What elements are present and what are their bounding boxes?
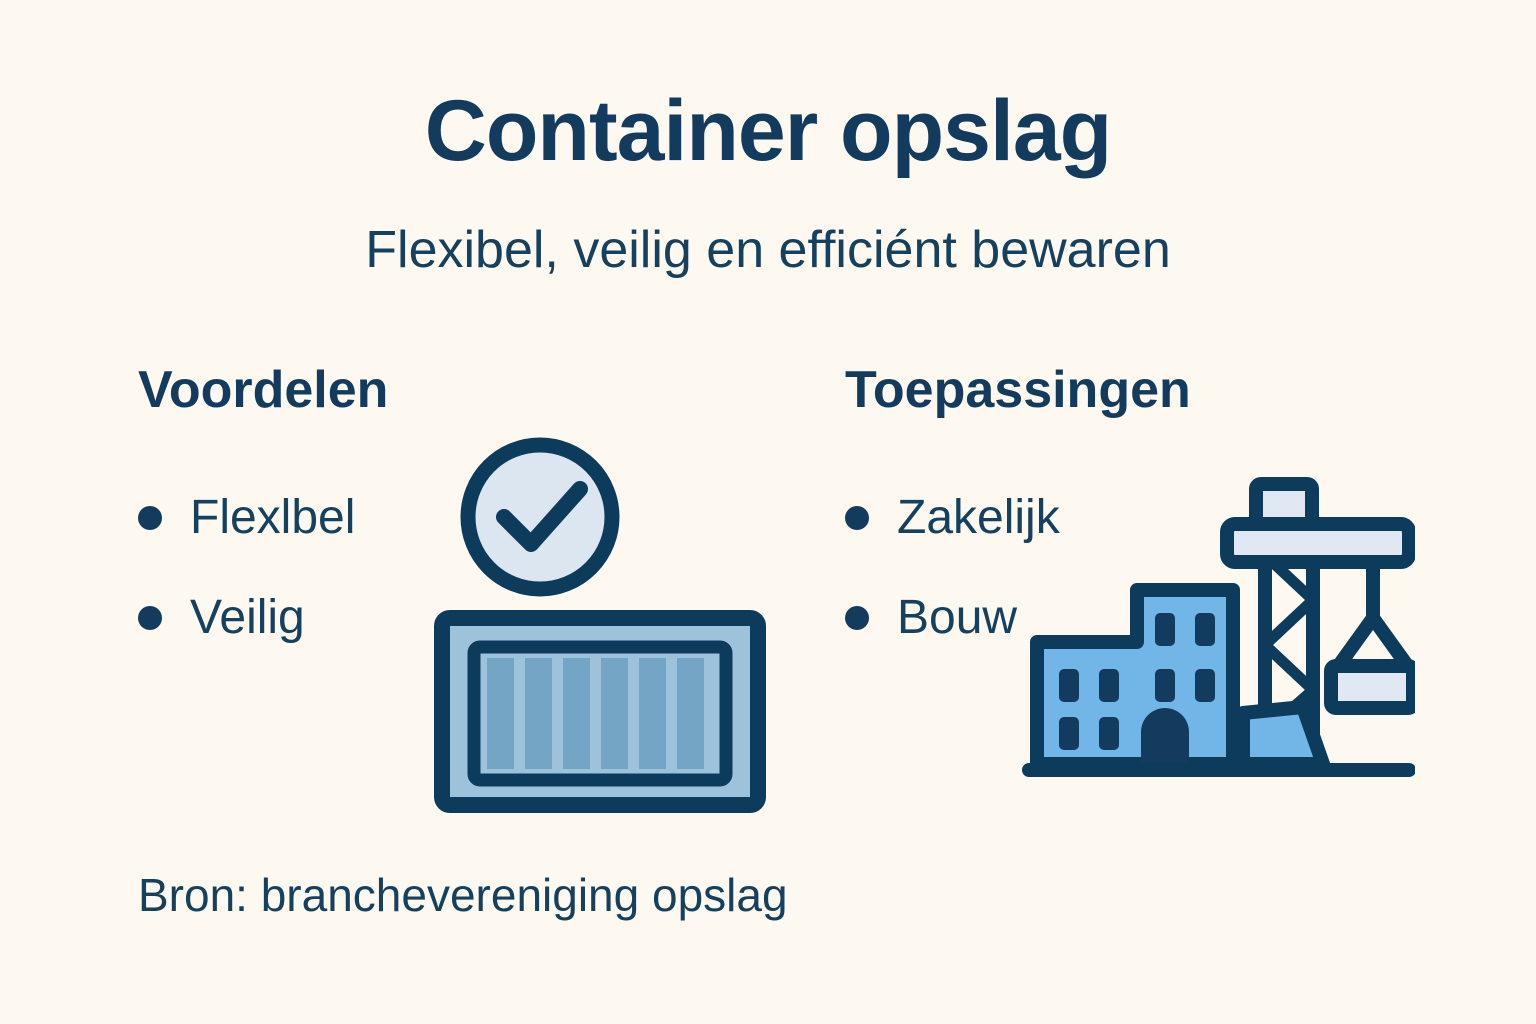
shipping-container-illustration [430, 425, 770, 820]
column-heading-voordelen: Voordelen [138, 362, 388, 419]
bullet-dot-icon [138, 606, 162, 630]
infographic-canvas: Container opslag Flexibel, veilig en eff… [0, 0, 1536, 1024]
crane-jib-icon [1227, 524, 1409, 562]
list-item-label: Flexlbel [190, 494, 355, 542]
bullet-dot-icon [845, 506, 869, 530]
page-title: Container opslag [0, 86, 1536, 176]
material-pile-icon [1243, 707, 1323, 764]
benefits-list: Flexlbel Veilig [138, 468, 355, 668]
list-item-label: Bouw [897, 594, 1017, 642]
check-circle-icon [468, 445, 612, 589]
list-item: Veilig [138, 568, 355, 668]
container-body-icon [442, 618, 758, 805]
crane-load-icon [1331, 666, 1413, 708]
list-item-label: Veilig [190, 594, 305, 642]
source-caption: Bron: branchevereniging opslag [138, 868, 788, 922]
page-subtitle: Flexibel, veilig en efficiént bewaren [0, 222, 1536, 279]
building-door-icon [1141, 708, 1189, 764]
bullet-dot-icon [138, 506, 162, 530]
bullet-dot-icon [845, 606, 869, 630]
list-item: Flexlbel [138, 468, 355, 568]
construction-site-illustration [1015, 470, 1415, 820]
column-heading-toepassingen: Toepassingen [845, 362, 1191, 419]
